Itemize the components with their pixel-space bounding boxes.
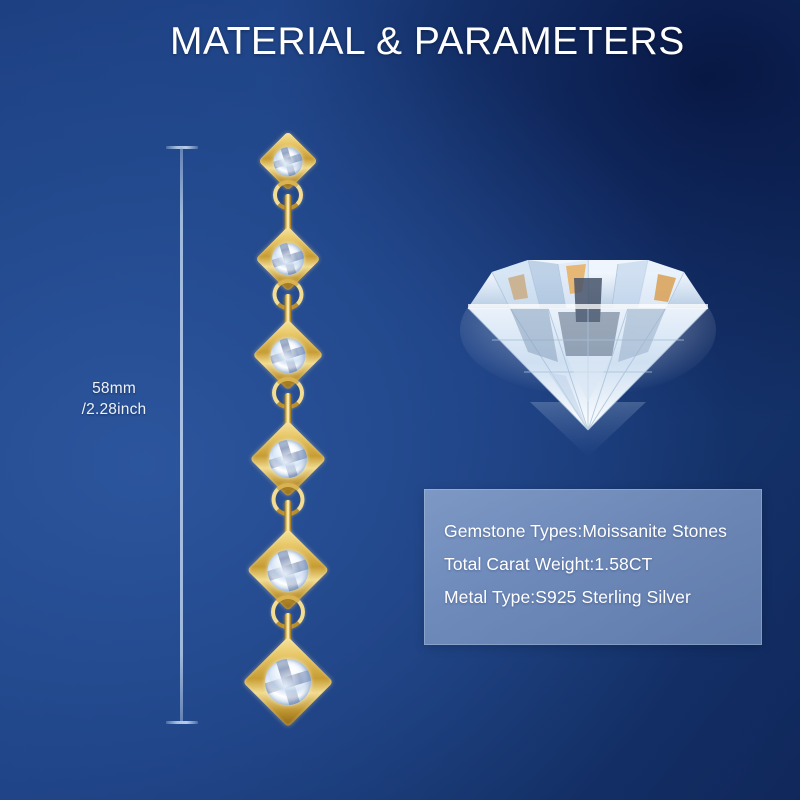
dimension-shaft [180, 147, 183, 723]
dimension-cap-bottom [166, 721, 198, 724]
specifications-list: Gemstone Types:Moissanite Stones Total C… [444, 515, 752, 614]
diamond-girdle [468, 304, 708, 309]
spec-carat-weight: Total Carat Weight:1.58CT [444, 548, 752, 581]
moissanite-stone-6 [255, 649, 320, 714]
moissanite-stone-5 [259, 541, 317, 599]
measurement-inch: /2.28inch [58, 399, 170, 420]
moissanite-stone-3 [263, 330, 312, 379]
pendant-product-image [236, 132, 340, 732]
measurement-mm: 58mm [58, 378, 170, 399]
moissanite-stone-2 [265, 236, 310, 281]
measurement-label: 58mm /2.28inch [58, 378, 170, 420]
length-dimension-line [166, 146, 198, 724]
moissanite-stone-4 [261, 432, 315, 486]
diamond-illustration [462, 252, 714, 457]
spec-metal-type: Metal Type:S925 Sterling Silver [444, 581, 752, 614]
product-parameters-graphic: MATERIAL & PARAMETERS 58mm /2.28inch [0, 0, 800, 800]
moissanite-stone-1 [267, 140, 308, 181]
specifications-panel: Gemstone Types:Moissanite Stones Total C… [424, 489, 762, 645]
gem-setting-6 [243, 637, 334, 728]
spec-gemstone-type: Gemstone Types:Moissanite Stones [444, 515, 752, 548]
page-title: MATERIAL & PARAMETERS [170, 20, 685, 64]
